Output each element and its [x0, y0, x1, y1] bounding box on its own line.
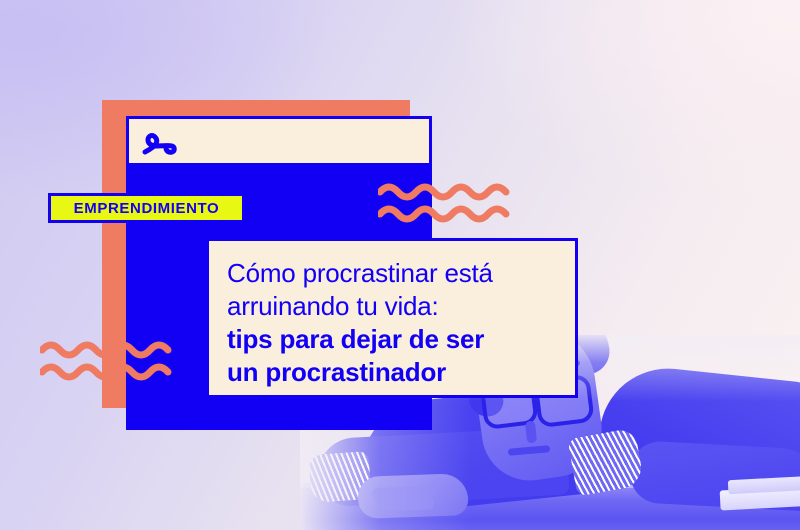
title-card: Cómo procrastinar está arruinando tu vid…	[206, 238, 578, 398]
title-line-4: un procrastinador	[227, 356, 557, 389]
category-badge-label: EMPRENDIMIENTO	[74, 200, 220, 217]
title-line-2: arruinando tu vida:	[227, 290, 557, 323]
card-header	[126, 116, 432, 166]
article-cover-graphic: EMPRENDIMIENTO Cómo procrastinar está ar…	[0, 0, 800, 530]
title-line-1: Cómo procrastinar está	[227, 257, 557, 290]
cursive-loop-logo-icon	[141, 126, 177, 158]
wave-decoration-left	[40, 338, 188, 384]
title-line-3: tips para dejar de ser	[227, 323, 557, 356]
wave-decoration-right	[378, 180, 526, 226]
category-badge[interactable]: EMPRENDIMIENTO	[48, 193, 245, 223]
